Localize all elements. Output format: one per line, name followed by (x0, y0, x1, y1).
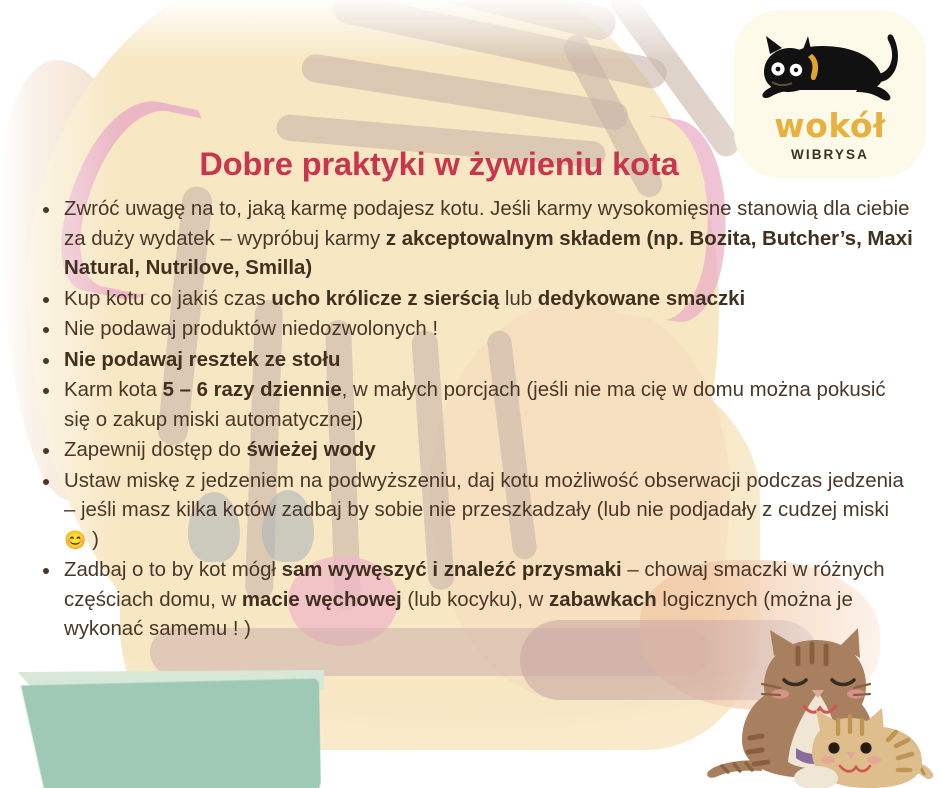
tip-fresh-water: Zapewnij dostęp do świeżej wody (36, 436, 916, 466)
food-bowl-icon (19, 678, 321, 788)
tip-food-quality: Zwróć uwagę na to, jaką karmę podajesz k… (36, 195, 916, 284)
tip-rabbit-ear: Kup kotu co jakiś czas ucho królicze z s… (36, 285, 916, 315)
tip-text: Zadbaj o to by kot mógł (64, 559, 282, 581)
tip-text: Kup kotu co jakiś czas (64, 288, 271, 310)
tip-text: Karm kota (64, 379, 163, 401)
tips-list: Zwróć uwagę na to, jaką karmę podajesz k… (0, 195, 940, 645)
smiling-face-emoji: 😊 (64, 530, 86, 550)
page-title: Dobre praktyki w żywieniu kota (0, 0, 940, 183)
tip-emphasis: zabawkach (549, 589, 657, 611)
poster-content: Dobre praktyki w żywieniu kota Zwróć uwa… (0, 0, 940, 646)
tip-feeding-frequency: Karm kota 5 – 6 razy dziennie, w małych … (36, 376, 916, 435)
tip-no-forbidden-products: Nie podawaj produktów niedozwolonych ! (36, 315, 916, 345)
tip-emphasis: Nie podawaj resztek ze stołu (64, 349, 341, 371)
tip-emphasis: dedykowane smaczki (538, 288, 745, 310)
tip-no-table-scraps: Nie podawaj resztek ze stołu (36, 346, 916, 376)
tip-text: lub (499, 288, 538, 310)
tip-elevated-bowl: Ustaw miskę z jedzeniem na podwyższeniu,… (36, 467, 916, 556)
brown-tabby-cat-with-kitten-illustration (700, 620, 940, 788)
tip-emphasis: macie węchowej (242, 589, 402, 611)
tip-emphasis: sam wywęszyć i znaleźć przysmaki (282, 559, 622, 581)
tip-text: Nie podawaj produktów niedozwolonych ! (64, 318, 438, 340)
poster-canvas: wokół WIBRYSA Dobre praktyki w żywieniu … (0, 0, 940, 788)
tip-text: (lub kocyku), w (402, 589, 549, 611)
tip-emphasis: ucho królicze z sierścią (271, 288, 499, 310)
tip-text: ) (86, 529, 98, 551)
tip-emphasis: świeżej wody (247, 439, 376, 461)
tip-text: Zapewnij dostęp do (64, 439, 247, 461)
tip-emphasis: 5 – 6 razy dziennie (163, 379, 342, 401)
tip-text: Ustaw miskę z jedzeniem na podwyższeniu,… (64, 470, 904, 522)
